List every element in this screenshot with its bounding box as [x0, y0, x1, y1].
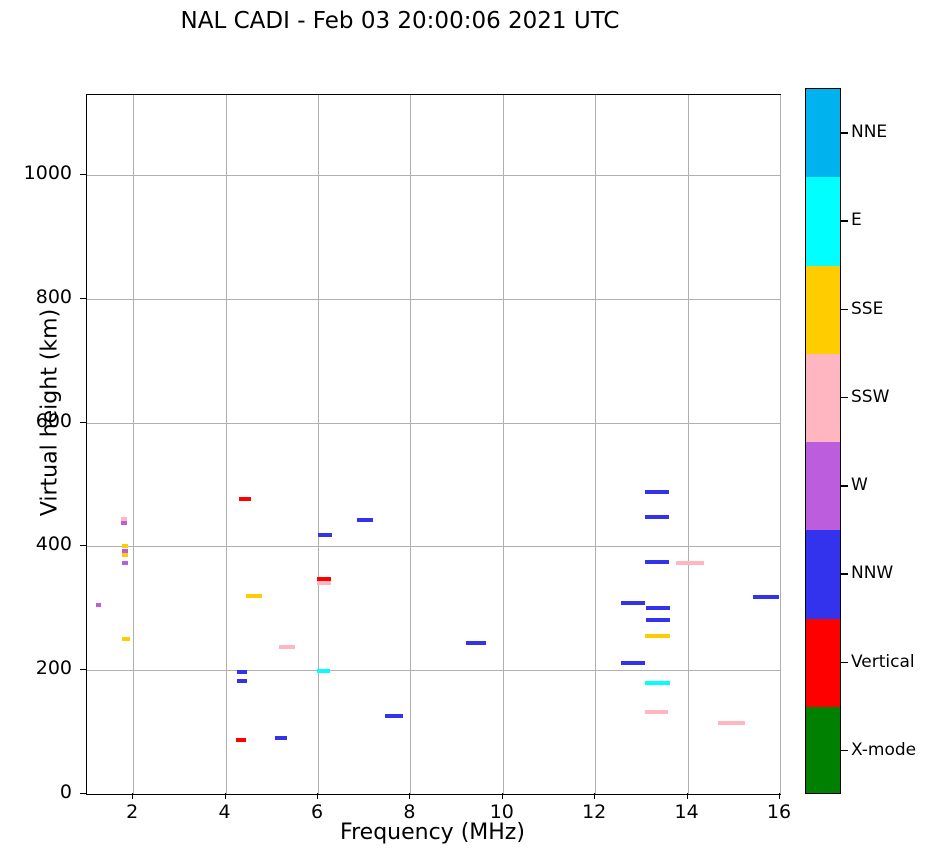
x-tick [409, 793, 410, 799]
gridline-vertical [780, 95, 781, 794]
data-point [122, 553, 128, 557]
colorbar-label-e: E [851, 210, 862, 230]
colorbar-band-nne[interactable] [806, 89, 840, 177]
colorbar-label-nne: NNE [851, 122, 887, 142]
gridlines [87, 95, 780, 794]
x-tick [132, 793, 133, 799]
gridline-vertical [318, 95, 319, 794]
data-point [237, 670, 247, 674]
x-tick [594, 793, 595, 799]
colorbar-tick [841, 750, 848, 751]
colorbar-label-vertical: Vertical [851, 652, 915, 672]
colorbar-band-e[interactable] [806, 177, 840, 265]
colorbar-band-nnw[interactable] [806, 530, 840, 618]
data-point [122, 561, 128, 565]
y-tick-label: 0 [0, 781, 72, 803]
y-tick-label: 200 [0, 657, 72, 679]
colorbar-label-nnw: NNW [851, 563, 893, 583]
data-point [122, 637, 130, 641]
data-point [318, 533, 332, 537]
colorbar-label-sse: SSE [851, 299, 883, 319]
data-point [646, 618, 670, 622]
colorbar-band-sse[interactable] [806, 266, 840, 354]
y-tick [80, 669, 86, 670]
data-point [646, 606, 670, 610]
data-points-layer [87, 95, 780, 794]
gridline-horizontal [87, 299, 780, 300]
data-point [275, 736, 287, 740]
colorbar-tick [841, 573, 848, 574]
data-point [122, 549, 128, 553]
gridline-horizontal [87, 423, 780, 424]
colorbar-tick [841, 662, 848, 663]
data-point [122, 544, 128, 548]
y-tick [80, 793, 86, 794]
colorbar-label-ssw: SSW [851, 387, 889, 407]
data-point [753, 595, 779, 599]
gridline-vertical [410, 95, 411, 794]
data-point [621, 601, 645, 605]
data-point [246, 594, 262, 598]
colorbar-label-x-mode: X-mode [851, 740, 916, 760]
colorbar-band-vertical[interactable] [806, 619, 840, 707]
colorbar-tick [841, 309, 848, 310]
colorbar-tick [841, 485, 848, 486]
data-point [466, 641, 486, 645]
data-point [317, 581, 331, 585]
colorbar[interactable] [805, 88, 841, 794]
gridline-vertical [133, 95, 134, 794]
x-tick [502, 793, 503, 799]
x-tick [225, 793, 226, 799]
x-tick [779, 793, 780, 799]
data-point [237, 679, 247, 683]
data-point [239, 497, 251, 501]
y-tick [80, 174, 86, 175]
x-tick [687, 793, 688, 799]
colorbar-band-ssw[interactable] [806, 354, 840, 442]
data-point [718, 721, 745, 725]
colorbar-label-w: W [851, 475, 868, 495]
colorbar-tick [841, 132, 848, 133]
gridline-vertical [226, 95, 227, 794]
gridline-horizontal [87, 175, 780, 176]
x-tick [317, 793, 318, 799]
y-axis-label: Virtual height (km) [38, 233, 63, 593]
data-point [385, 714, 403, 718]
data-point [236, 738, 246, 742]
data-point [645, 515, 669, 519]
y-tick-label: 1000 [0, 162, 72, 184]
colorbar-tick [841, 397, 848, 398]
data-point [357, 518, 374, 522]
data-point [645, 560, 669, 564]
data-point [121, 517, 127, 521]
data-point [645, 681, 670, 685]
colorbar-tick [841, 220, 848, 221]
colorbar-band-x-mode[interactable] [806, 707, 840, 794]
data-point [96, 603, 101, 607]
data-point [317, 669, 331, 673]
y-tick [80, 545, 86, 546]
colorbar-band-w[interactable] [806, 442, 840, 530]
page-title: NAL CADI - Feb 03 20:00:06 2021 UTC [0, 8, 800, 34]
plot-area[interactable] [86, 94, 781, 795]
data-point [645, 634, 670, 638]
data-point [279, 645, 295, 649]
data-point [645, 710, 668, 714]
data-point [645, 490, 669, 494]
gridline-vertical [688, 95, 689, 794]
data-point [676, 561, 705, 565]
x-axis-label: Frequency (MHz) [86, 820, 779, 845]
y-tick [80, 422, 86, 423]
y-tick [80, 298, 86, 299]
gridline-vertical [503, 95, 504, 794]
gridline-horizontal [87, 546, 780, 547]
gridline-vertical [595, 95, 596, 794]
data-point [121, 521, 127, 525]
data-point [621, 661, 645, 665]
data-point [317, 577, 331, 581]
gridline-horizontal [87, 670, 780, 671]
